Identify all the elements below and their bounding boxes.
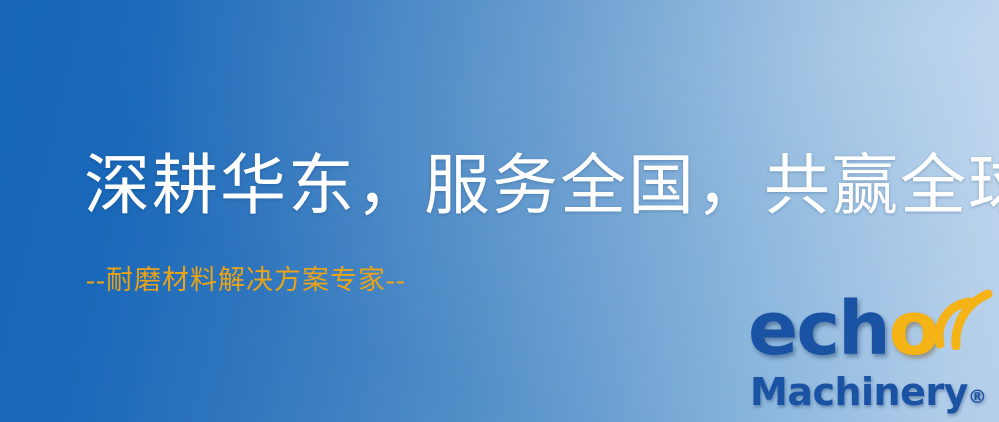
registered-trademark-mark: ®: [968, 386, 987, 408]
logo-word-ech: ech: [748, 286, 889, 372]
banner-subtitle: --耐磨材料解决方案专家--: [86, 266, 406, 296]
logo-wordmark: echo: [748, 292, 938, 366]
echo-signal-arcs-icon: [930, 288, 999, 350]
echo-machinery-logo[interactable]: echo Machinery®: [748, 292, 996, 422]
promotional-banner: 深耕华东，服务全国，共赢全球 --耐磨材料解决方案专家-- echo Machi…: [0, 0, 999, 422]
logo-tagline-text: Machinery: [750, 370, 968, 414]
banner-headline: 深耕华东，服务全国，共赢全球: [84, 152, 999, 222]
logo-tagline: Machinery®: [750, 370, 987, 414]
